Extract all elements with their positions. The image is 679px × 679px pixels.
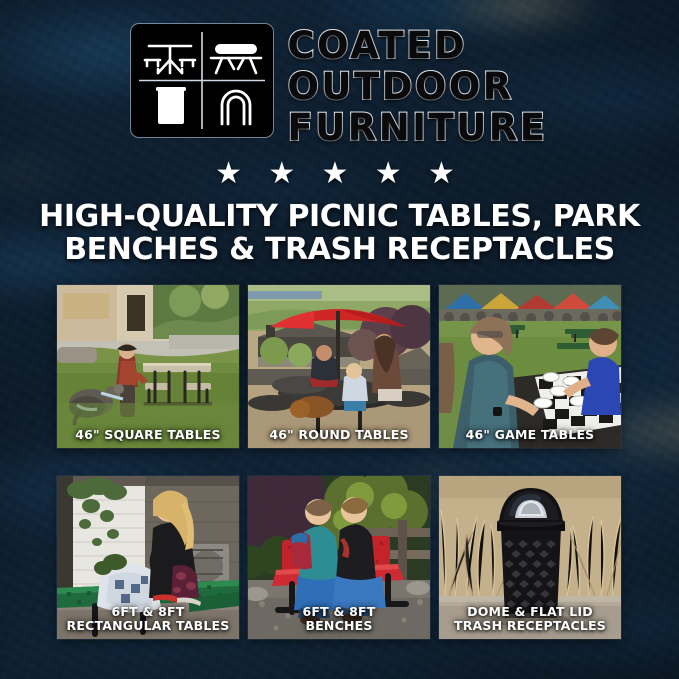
headline-line-1: HIGH-QUALITY PICNIC TABLES, PARK <box>30 200 649 233</box>
brand-word-coated: COATED <box>287 26 547 66</box>
park-bench-icon <box>211 44 261 73</box>
bike-rack-icon <box>222 91 250 124</box>
gallery-caption: 6FT & 8FT BENCHES <box>248 605 430 633</box>
caption-line-1: 46" GAME TABLES <box>443 428 617 442</box>
page-title: HIGH-QUALITY PICNIC TABLES, PARK BENCHES… <box>30 200 649 266</box>
gallery-item-round-tables[interactable]: 46" ROUND TABLES <box>248 285 430 448</box>
brand-word-furniture: FURNITURE <box>287 108 547 148</box>
caption-line-2: TRASH RECEPTACLES <box>443 619 617 633</box>
round-tables-photo <box>248 285 430 448</box>
caption-line-1: DOME & FLAT LID <box>443 605 617 619</box>
five-star-rating: ★ ★ ★ ★ ★ <box>0 158 679 190</box>
game-tables-photo <box>439 285 621 448</box>
logo-icon-grid <box>131 24 273 137</box>
caption-line-1: 6FT & 8FT <box>252 605 426 619</box>
gallery-item-trash-receptacles[interactable]: DOME & FLAT LID TRASH RECEPTACLES <box>439 476 621 639</box>
gallery-item-rectangular-tables[interactable]: 6FT & 8FT RECTANGULAR TABLES <box>57 476 239 639</box>
gallery-item-benches[interactable]: 6FT & 8FT BENCHES <box>248 476 430 639</box>
brand-word-outdoor: OUTDOOR <box>287 67 547 107</box>
product-gallery-grid: 46" SQUARE TABLES <box>57 285 623 639</box>
caption-line-2: BENCHES <box>252 619 426 633</box>
infographic-content: COATED OUTDOOR FURNITURE ★ ★ ★ ★ ★ HIGH-… <box>0 0 679 679</box>
headline-line-2: BENCHES & TRASH RECEPTACLES <box>30 233 649 266</box>
caption-line-1: 6FT & 8FT <box>61 605 235 619</box>
gallery-caption: 6FT & 8FT RECTANGULAR TABLES <box>57 605 239 633</box>
square-tables-photo <box>57 285 239 448</box>
picnic-table-icon <box>145 46 195 73</box>
brand-wordmark: COATED OUTDOOR FURNITURE <box>287 24 547 148</box>
gallery-caption: 46" ROUND TABLES <box>248 428 430 442</box>
caption-line-1: 46" ROUND TABLES <box>252 428 426 442</box>
gallery-item-square-tables[interactable]: 46" SQUARE TABLES <box>57 285 239 448</box>
caption-line-1: 46" SQUARE TABLES <box>61 428 235 442</box>
caption-line-2: RECTANGULAR TABLES <box>61 619 235 633</box>
gallery-caption: 46" GAME TABLES <box>439 428 621 442</box>
gallery-caption: DOME & FLAT LID TRASH RECEPTACLES <box>439 605 621 633</box>
gallery-item-game-tables[interactable]: 46" GAME TABLES <box>439 285 621 448</box>
brand-logo: COATED OUTDOOR FURNITURE <box>0 24 679 148</box>
trash-receptacle-icon <box>156 87 186 124</box>
gallery-caption: 46" SQUARE TABLES <box>57 428 239 442</box>
